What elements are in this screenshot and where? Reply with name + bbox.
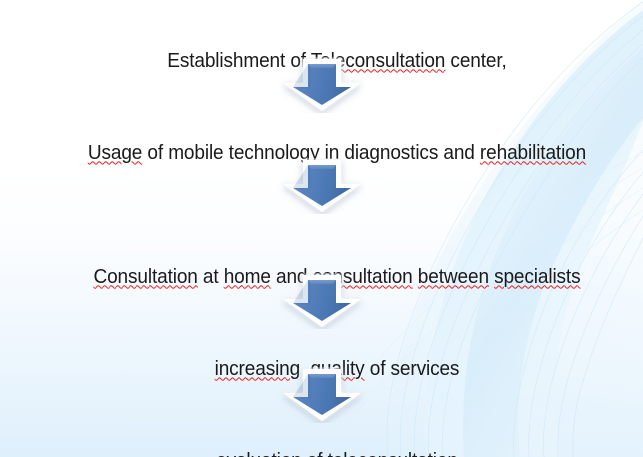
flow-step-5-seg-2-misspelled: teleconsultation [328, 449, 458, 457]
flow-step-3-seg-0-misspelled: Consultation [93, 265, 197, 288]
down-block-arrow-icon-3 [279, 273, 365, 329]
flow-step-2-seg-4-misspelled: rehabilitation [480, 141, 586, 164]
flow-step-3-seg-6-misspelled: between [418, 265, 489, 288]
down-block-arrow-icon-2 [279, 158, 365, 214]
flow-diagram: Establishment of Teleconsultation center… [0, 0, 643, 457]
flow-step-3-seg-8-misspelled: specialists [494, 265, 580, 288]
slide-canvas: Establishment of Teleconsultation center… [0, 0, 643, 457]
flow-step-3-seg-1: at [198, 265, 224, 288]
flow-step-3-seg-2-misspelled: home [224, 265, 271, 288]
flow-step-4-seg-3: of services [365, 357, 460, 380]
flow-step-2-seg-0-misspelled: Usage [88, 141, 142, 164]
flow-step-1-seg-2: center, [445, 49, 506, 72]
flow-step-5-text: evaluation of teleconsultation [23, 427, 621, 457]
down-block-arrow-icon-4 [279, 367, 365, 423]
flow-step-5-seg-0-misspelled: evaluation [216, 449, 302, 457]
down-block-arrow-icon-1 [279, 57, 365, 113]
flow-step-5-seg-1: of [302, 449, 328, 457]
